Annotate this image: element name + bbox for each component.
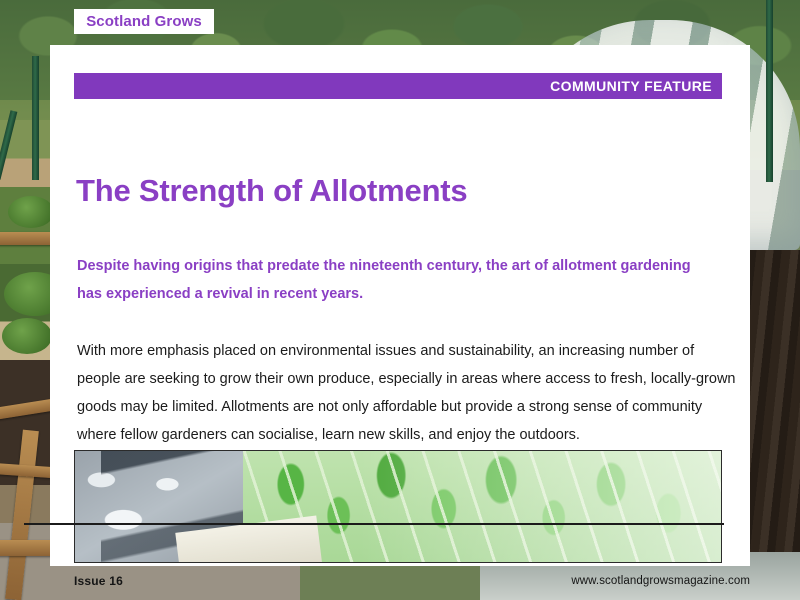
magazine-page: Scotland Grows COMMUNITY FEATURE The Str… xyxy=(0,0,800,600)
footer-issue-number: Issue 16 xyxy=(74,574,123,588)
masthead-label: Scotland Grows xyxy=(86,13,202,30)
category-banner-label: COMMUNITY FEATURE xyxy=(550,78,712,94)
background-fence-post xyxy=(766,0,773,182)
article-photo xyxy=(74,450,722,563)
footer-divider xyxy=(24,523,724,525)
category-banner: COMMUNITY FEATURE xyxy=(74,73,722,99)
article-standfirst: Despite having origins that predate the … xyxy=(77,252,702,308)
page-footer: Issue 16 www.scotlandgrowsmagazine.com xyxy=(74,570,750,592)
article-photo-highlight xyxy=(359,451,721,562)
article-card: COMMUNITY FEATURE The Strength of Allotm… xyxy=(50,45,750,566)
footer-website-url[interactable]: www.scotlandgrowsmagazine.com xyxy=(571,575,750,587)
article-body-text: With more emphasis placed on environment… xyxy=(77,337,737,449)
background-foliage xyxy=(8,196,54,228)
masthead-logo: Scotland Grows xyxy=(74,9,214,34)
background-fence-post xyxy=(32,56,39,180)
article-headline: The Strength of Allotments xyxy=(76,173,467,209)
background-foliage xyxy=(2,318,52,354)
